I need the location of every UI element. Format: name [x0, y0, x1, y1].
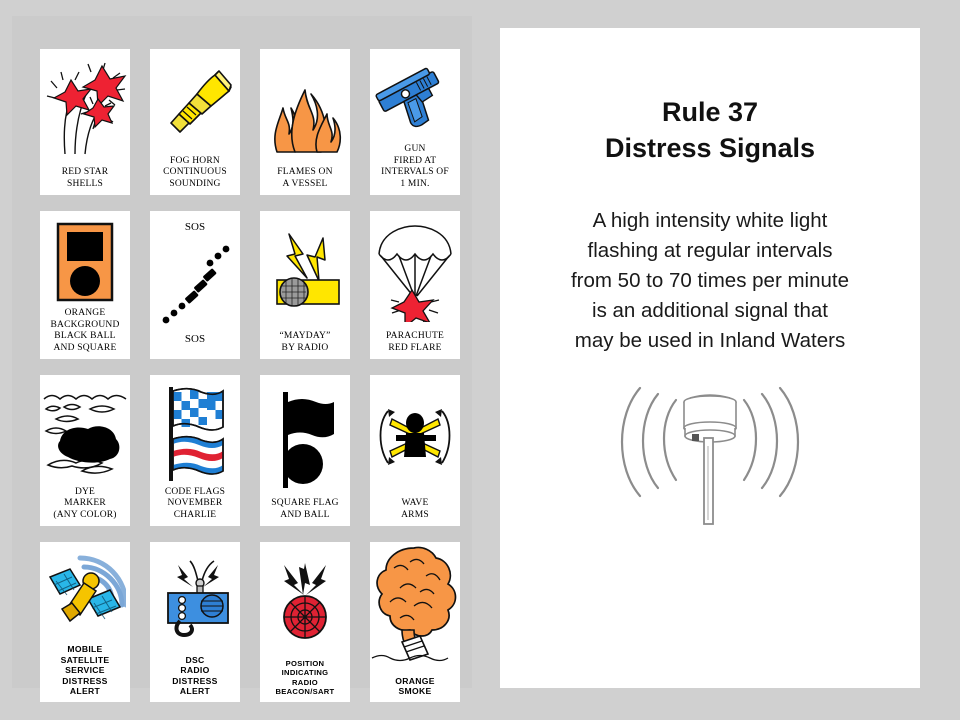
card-mobile-satellite[interactable]: MOBILE SATELLITE SERVICE DISTRESS ALERT [40, 542, 130, 702]
orange-smoke-icon [370, 542, 460, 676]
parachute-flare-icon [370, 211, 460, 331]
body-line-5: may be used in Inland Waters [500, 326, 920, 356]
card-caption: CODE FLAGS NOVEMBER CHARLIE [163, 487, 227, 527]
card-red-star-shells[interactable]: RED STAR SHELLS [40, 49, 130, 195]
dsc-radio-icon [150, 542, 240, 655]
card-caption: DSC RADIO DISTRESS ALERT [170, 655, 219, 702]
card-caption: FOG HORN CONTINUOUS SOUNDING [161, 156, 229, 196]
left-panel: RED STAR SHELLS [12, 16, 472, 688]
card-mayday-by-radio[interactable]: “MAYDAY” BY RADIO [260, 211, 350, 359]
card-wave-arms[interactable]: WAVE ARMS [370, 375, 460, 526]
flames-icon [260, 49, 350, 167]
card-caption: WAVE ARMS [399, 498, 431, 526]
satellite-icon [40, 542, 130, 644]
body-line-3: from 50 to 70 times per minute [500, 266, 920, 296]
card-code-flags-november-charlie[interactable]: CODE FLAGS NOVEMBER CHARLIE [150, 375, 240, 526]
fireworks-red-star-icon [40, 49, 130, 167]
page-title-line-2: Distress Signals [500, 130, 920, 166]
card-caption: ORANGE SMOKE [393, 676, 437, 702]
card-caption: GUN FIRED AT INTERVALS OF 1 MIN. [379, 144, 451, 195]
sos-label-bottom: SOS [150, 333, 240, 359]
card-fog-horn[interactable]: FOG HORN CONTINUOUS SOUNDING [150, 49, 240, 195]
card-square-flag-and-ball[interactable]: SQUARE FLAG AND BALL [260, 375, 350, 526]
morse-code-sos-icon [150, 233, 240, 333]
orange-flag-ball-square-icon [40, 211, 130, 308]
card-caption: PARACHUTE RED FLARE [384, 331, 446, 359]
distress-signal-card-grid: RED STAR SHELLS [40, 49, 460, 702]
body-line-2: flashing at regular intervals [500, 236, 920, 266]
strobe-light-illustration [500, 376, 920, 536]
card-caption: MOBILE SATELLITE SERVICE DISTRESS ALERT [59, 644, 112, 702]
card-dye-marker[interactable]: DYE MARKER (ANY COLOR) [40, 375, 130, 526]
body-line-1: A high intensity white light [500, 206, 920, 236]
wave-arms-person-icon [370, 375, 460, 498]
body-text: A high intensity white light flashing at… [500, 206, 920, 356]
page-title: Rule 37 Distress Signals [500, 94, 920, 166]
card-dsc-radio[interactable]: DSC RADIO DISTRESS ALERT [150, 542, 240, 702]
card-caption: “MAYDAY” BY RADIO [277, 331, 332, 359]
card-sos-morse[interactable]: SOS [150, 211, 240, 359]
card-epirb-sart[interactable]: POSITION INDICATING RADIO BEACON/SART [260, 542, 350, 702]
card-caption: FLAMES ON A VESSEL [275, 167, 334, 195]
card-caption: DYE MARKER (ANY COLOR) [51, 487, 118, 527]
card-orange-background[interactable]: ORANGE BACKGROUND BLACK BALL AND SQUARE [40, 211, 130, 359]
radio-lightning-icon [260, 211, 350, 331]
epirb-beacon-icon [260, 542, 350, 659]
card-gun-fired[interactable]: GUN FIRED AT INTERVALS OF 1 MIN. [370, 49, 460, 195]
right-panel: Rule 37 Distress Signals A high intensit… [500, 28, 920, 688]
pistol-icon [370, 49, 460, 144]
card-flames-on-vessel[interactable]: FLAMES ON A VESSEL [260, 49, 350, 195]
body-line-4: is an additional signal that [500, 296, 920, 326]
sos-label-top: SOS [150, 211, 240, 233]
dye-marker-icon [40, 375, 130, 487]
page-title-line-1: Rule 37 [500, 94, 920, 130]
code-flags-november-charlie-icon [150, 375, 240, 487]
card-caption: SQUARE FLAG AND BALL [269, 498, 340, 526]
card-caption: POSITION INDICATING RADIO BEACON/SART [274, 659, 337, 702]
card-caption: RED STAR SHELLS [60, 167, 111, 195]
square-flag-and-ball-icon [260, 375, 350, 498]
card-parachute-red-flare[interactable]: PARACHUTE RED FLARE [370, 211, 460, 359]
fog-horn-icon [150, 49, 240, 156]
card-caption: ORANGE BACKGROUND BLACK BALL AND SQUARE [48, 308, 121, 359]
strobe-light-on-pole-icon [600, 376, 820, 536]
card-orange-smoke[interactable]: ORANGE SMOKE [370, 542, 460, 702]
slide-root: RED STAR SHELLS [0, 0, 960, 720]
